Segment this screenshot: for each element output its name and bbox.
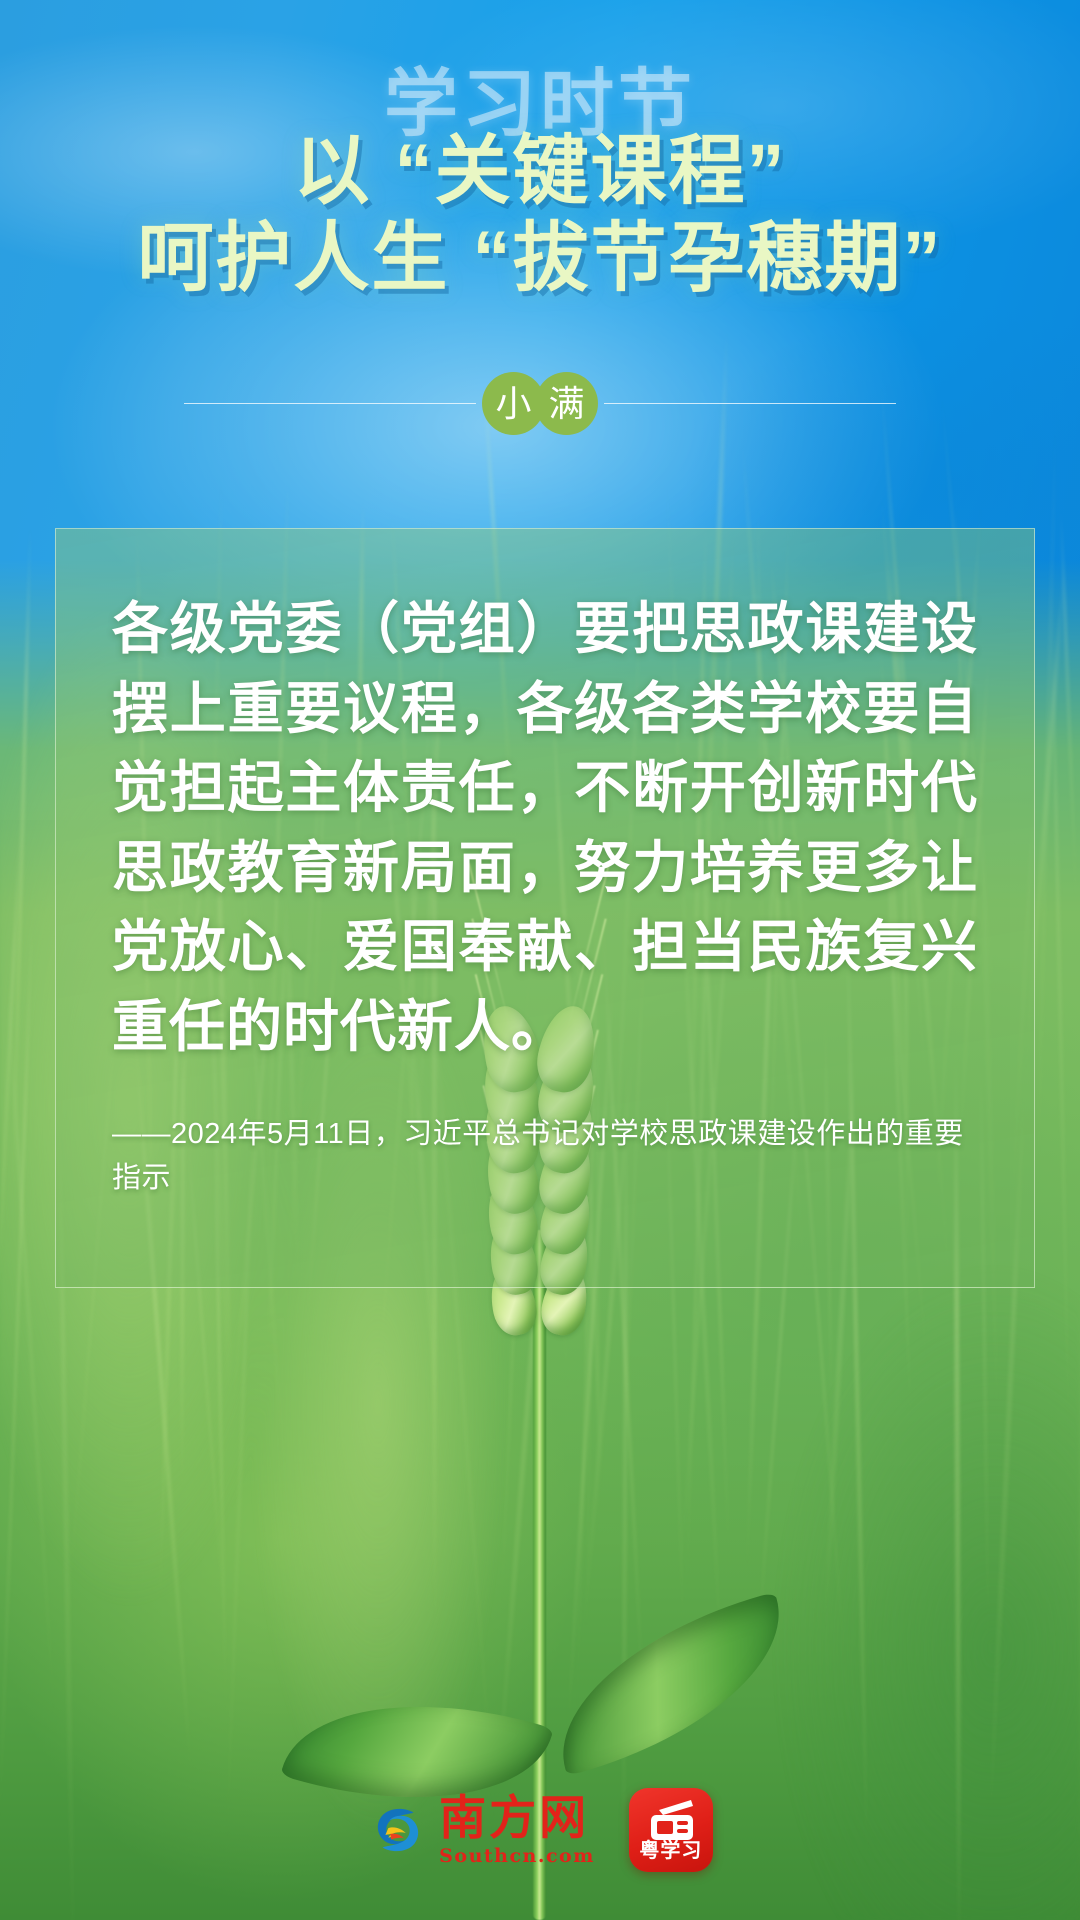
poster-title: 以 “关键课程” 呵护人生 “拔节孕穗期” [0, 132, 1080, 298]
divider-line-left [184, 403, 476, 404]
quote-panel: 各级党委（党组）要把思政课建设摆上重要议程，各级各类学校要自觉担起主体责任，不断… [55, 528, 1035, 1288]
title-line-1: 以 “关键课程” [0, 132, 1080, 211]
poster-canvas: 学习时节 以 “关键课程” 呵护人生 “拔节孕穗期” 小 满 各级党委（党组）要… [0, 0, 1080, 1920]
southcn-logo[interactable]: 南方网 Southcn.com [367, 1795, 595, 1866]
yuexuexi-label: 粤学习 [629, 1834, 713, 1863]
solar-term-circles: 小 满 [482, 372, 598, 435]
southcn-swirl-icon [367, 1799, 429, 1861]
divider-line-right [604, 403, 896, 404]
quote-source: ——2024年5月11日，习近平总书记对学校思政课建设作出的重要指示 [112, 1112, 978, 1200]
quote-text: 各级党委（党组）要把思政课建设摆上重要议程，各级各类学校要自觉担起主体责任，不断… [112, 589, 978, 1066]
solar-term-char-2: 满 [535, 372, 598, 435]
southcn-name-cn: 南方网 [439, 1795, 589, 1842]
solar-term-badge: 小 满 [0, 372, 1080, 435]
southcn-wordmark: 南方网 Southcn.com [439, 1795, 595, 1866]
yuexuexi-app-logo[interactable]: 粤学习 [629, 1788, 713, 1872]
southcn-name-en: Southcn.com [439, 1847, 595, 1866]
footer-logos: 南方网 Southcn.com 粤学习 [0, 1788, 1080, 1872]
title-line-2: 呵护人生 “拔节孕穗期” [0, 219, 1080, 298]
